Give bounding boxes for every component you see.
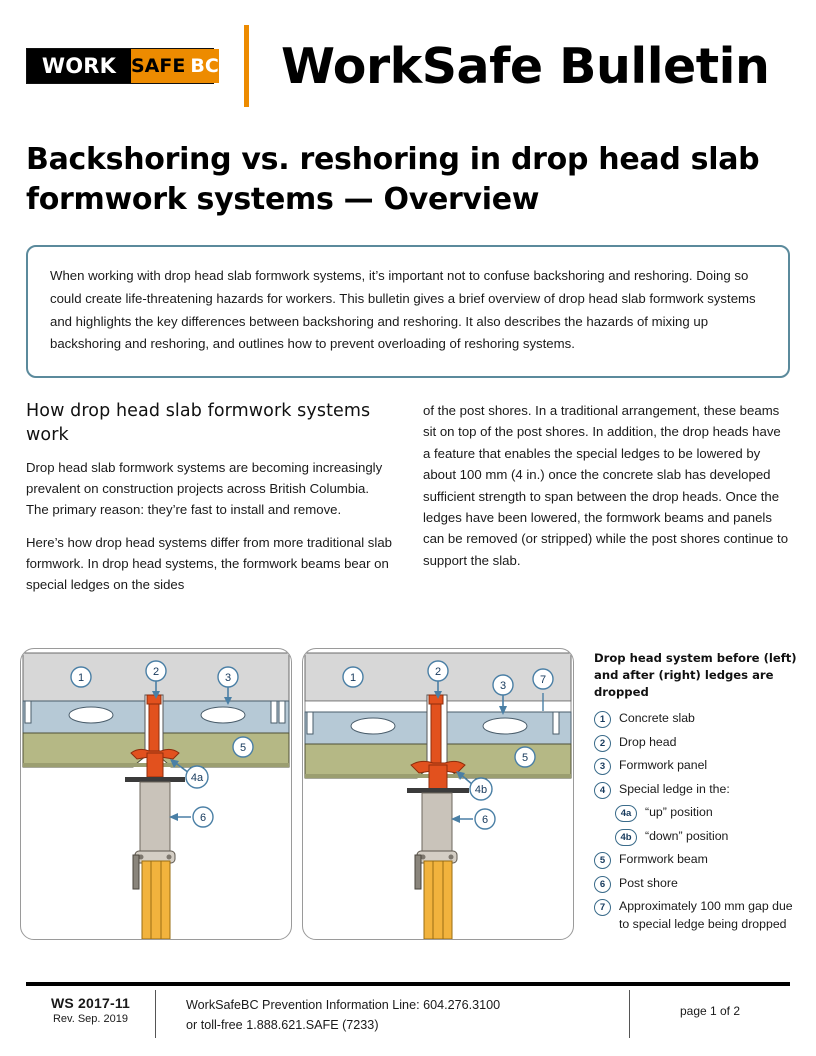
bulletin-title: WorkSafe Bulletin: [281, 42, 769, 91]
logo-bc-text: BC: [190, 55, 218, 77]
panel-hole-left: [351, 718, 395, 734]
callout-4b-right: 4b: [470, 778, 492, 800]
svg-text:6: 6: [482, 814, 488, 826]
svg-text:6: 6: [200, 812, 206, 824]
drop-head-top-cap: [429, 695, 443, 704]
page-title: Backshoring vs. reshoring in drop head s…: [26, 140, 790, 219]
legend-item-7: 7 Approximately 100 mm gap due to specia…: [594, 898, 800, 933]
svg-text:4a: 4a: [191, 772, 204, 784]
legend-item-1: 1 Concrete slab: [594, 710, 800, 728]
post-shore-upper-tube: [422, 793, 452, 853]
ledge-collar: [429, 765, 447, 789]
footer-document-code-block: WS 2017-11 Rev. Sep. 2019: [26, 990, 156, 1038]
page-footer: WS 2017-11 Rev. Sep. 2019 WorkSafeBC Pre…: [26, 990, 790, 1038]
callout-6-left: 6: [193, 807, 213, 827]
legend-item-6: 6 Post shore: [594, 875, 800, 893]
callout-6-right: 6: [475, 809, 495, 829]
section-heading: How drop head slab formwork systems work: [26, 400, 393, 448]
post-shore-upper-tube: [140, 782, 170, 852]
panel-edge-right: [271, 701, 277, 723]
callout-4a-left: 4a: [186, 766, 208, 788]
drop-head-stem: [431, 695, 441, 767]
callout-5-right: 5: [515, 747, 535, 767]
svg-text:1: 1: [350, 672, 356, 684]
paragraph-right-1: of the post shores. In a traditional arr…: [423, 400, 790, 571]
svg-text:7: 7: [540, 674, 546, 686]
callout-5-left: 5: [233, 737, 253, 757]
collar-pin-handle: [133, 855, 139, 889]
legend-item-4a: 4a “up” position: [594, 804, 800, 822]
diagram-before-svg: 1 2 3 5 4a: [21, 649, 291, 939]
header-divider: [244, 25, 249, 107]
panel-hole-left: [69, 707, 113, 723]
legend-marker-4b: 4b: [615, 829, 637, 846]
legend-marker-5: 5: [594, 852, 611, 869]
collar-bolt-right: [167, 855, 172, 860]
collar-pin-handle: [415, 855, 421, 889]
footer-code: WS 2017-11: [26, 995, 155, 1011]
page-header: WORK SAFE BC WorkSafe Bulletin: [0, 0, 816, 106]
bulletin-page: WORK SAFE BC WorkSafe Bulletin Backshori…: [0, 0, 816, 1056]
svg-text:2: 2: [153, 666, 159, 678]
paragraph-left-2: Here’s how drop head systems differ from…: [26, 532, 393, 596]
drop-head-top-cap: [147, 695, 161, 704]
ledge-collar: [147, 753, 163, 777]
footer-page-number: page 1 of 2: [630, 990, 790, 1038]
worksafebc-logo: WORK SAFE BC: [26, 48, 214, 84]
legend-item-2: 2 Drop head: [594, 734, 800, 752]
legend-label-2: Drop head: [619, 734, 676, 751]
callout-2-left: 2: [146, 661, 166, 681]
legend-label-5: Formwork beam: [619, 851, 708, 868]
svg-text:4b: 4b: [475, 784, 487, 796]
post-shore-top-plate: [407, 788, 469, 793]
svg-text:3: 3: [225, 672, 231, 684]
legend-item-3: 3 Formwork panel: [594, 757, 800, 775]
legend-label-4a: “up” position: [645, 804, 713, 821]
panel-edge-left: [307, 712, 313, 734]
diagram-after-ledge-drop: 1 2 3 7 5: [302, 648, 574, 940]
legend-marker-2: 2: [594, 735, 611, 752]
legend-marker-6: 6: [594, 876, 611, 893]
footer-contact-block: WorkSafeBC Prevention Information Line: …: [156, 990, 630, 1038]
callout-1-left: 1: [71, 667, 91, 687]
svg-text:1: 1: [78, 672, 84, 684]
callout-7-right: 7: [533, 669, 553, 689]
diagram-after-svg: 1 2 3 7 5: [303, 649, 573, 939]
legend-marker-7: 7: [594, 899, 611, 916]
summary-callout-box: When working with drop head slab formwor…: [26, 245, 790, 378]
callout-3-left: 3: [218, 667, 238, 687]
legend-label-3: Formwork panel: [619, 757, 707, 774]
footer-contact-line-2: or toll-free 1.888.621.SAFE (7233): [186, 1015, 629, 1035]
legend-label-4: Special ledge in the:: [619, 781, 730, 798]
figure-legend: Drop head system before (left) and after…: [584, 648, 800, 946]
footer-contact-line-1: WorkSafeBC Prevention Information Line: …: [186, 995, 629, 1015]
legend-item-4: 4 Special ledge in the:: [594, 781, 800, 799]
logo-safe-text: SAFE: [131, 55, 185, 77]
collar-bolt-right: [449, 855, 454, 860]
post-shore-lower-tube: [142, 861, 170, 939]
legend-marker-4a: 4a: [615, 805, 637, 822]
legend-label-4b: “down” position: [645, 828, 728, 845]
post-shore-top-plate: [125, 777, 185, 782]
legend-marker-3: 3: [594, 758, 611, 775]
body-column-right: of the post shores. In a traditional arr…: [423, 400, 790, 596]
body-columns: How drop head slab formwork systems work…: [26, 400, 790, 596]
panel-edge-right: [553, 712, 559, 734]
panel-edge-far-right: [279, 701, 285, 723]
panel-edge-left: [25, 701, 31, 723]
svg-text:3: 3: [500, 680, 506, 692]
footer-revision: Rev. Sep. 2019: [26, 1013, 155, 1025]
callout-3-right: 3: [493, 675, 513, 695]
panel-hole-right: [201, 707, 245, 723]
logo-work-text: WORK: [27, 49, 131, 83]
svg-text:5: 5: [240, 742, 246, 754]
callout-1-right: 1: [343, 667, 363, 687]
legend-item-5: 5 Formwork beam: [594, 851, 800, 869]
legend-marker-4: 4: [594, 782, 611, 799]
figure-area: 1 2 3 5 4a: [20, 648, 800, 946]
diagram-before-ledge-drop: 1 2 3 5 4a: [20, 648, 292, 940]
panel-hole-right: [483, 718, 527, 734]
legend-label-7: Approximately 100 mm gap due to special …: [619, 898, 800, 933]
svg-text:5: 5: [522, 752, 528, 764]
post-shore-lower-tube: [424, 861, 452, 939]
logo-safebc-block: SAFE BC: [131, 49, 219, 83]
legend-marker-1: 1: [594, 711, 611, 728]
paragraph-left-1: Drop head slab formwork systems are beco…: [26, 457, 393, 521]
body-column-left: How drop head slab formwork systems work…: [26, 400, 393, 596]
legend-title: Drop head system before (left) and after…: [594, 650, 800, 701]
callout-2-right: 2: [428, 661, 448, 681]
footer-rule: [26, 982, 790, 986]
svg-text:2: 2: [435, 666, 441, 678]
legend-label-1: Concrete slab: [619, 710, 695, 727]
legend-item-4b: 4b “down” position: [594, 828, 800, 846]
legend-label-6: Post shore: [619, 875, 678, 892]
